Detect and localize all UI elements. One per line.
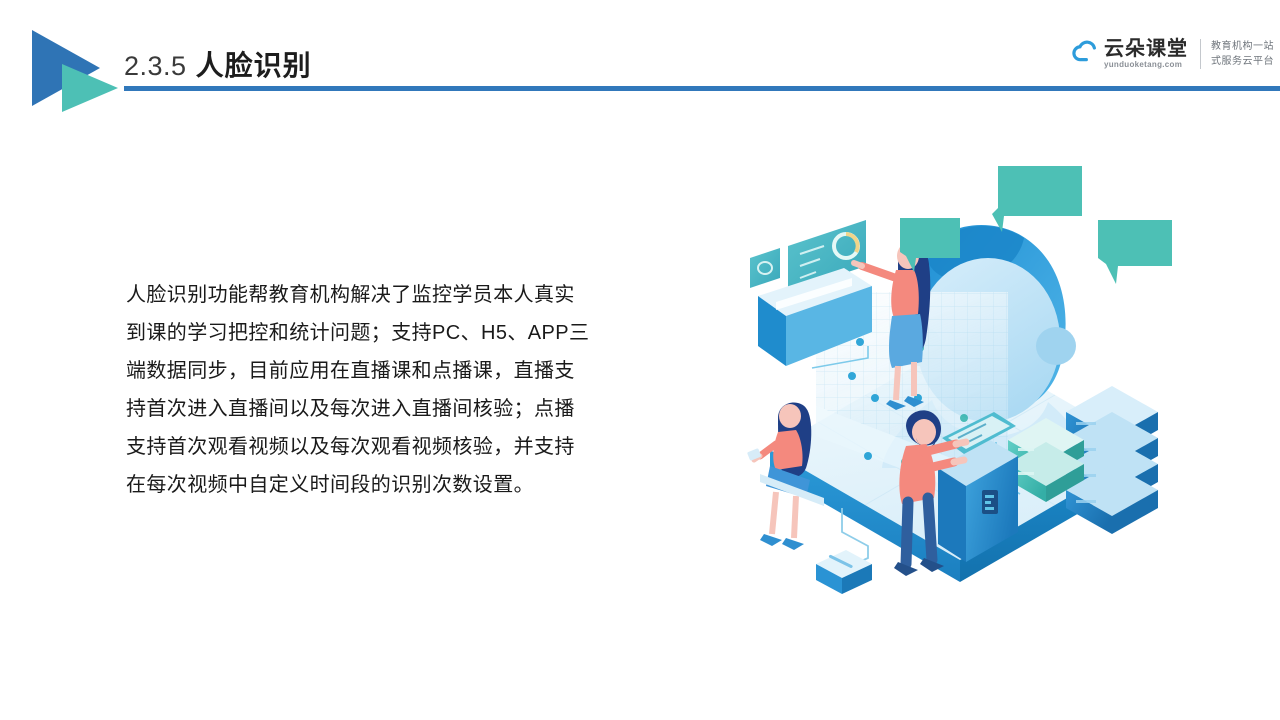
speech-bubble-top <box>992 166 1082 232</box>
copy-line: 持首次进入直播间以及每次进入直播间核验；点播 <box>126 390 626 428</box>
brand-mark <box>28 26 124 112</box>
corporate-logo-words: 云朵课堂 yunduoketang.com <box>1104 39 1188 69</box>
copy-line: 在每次视频中自定义时间段的识别次数设置。 <box>126 466 626 504</box>
corporate-name: 云朵课堂 <box>1104 39 1188 59</box>
copy-line: 人脸识别功能帮教育机构解决了监控学员本人真实 <box>126 276 626 314</box>
slide-header: 2.3.5 人脸识别 云朵课堂 yunduoketang.com 教育机构一站 … <box>0 0 1280 100</box>
page-title: 2.3.5 人脸识别 <box>124 44 312 84</box>
isometric-face-recognition-illustration <box>720 150 1200 600</box>
corporate-domain: yunduoketang.com <box>1104 61 1188 69</box>
header-divider-rule <box>124 86 1280 91</box>
logo-divider <box>1200 39 1201 69</box>
copy-line: 端数据同步，目前应用在直播课和点播课，直播支 <box>126 352 626 390</box>
speech-bubble-right <box>1098 220 1172 284</box>
title-number: 2.3.5 <box>124 51 187 82</box>
title-text: 人脸识别 <box>196 44 312 84</box>
corporate-logo: 云朵课堂 yunduoketang.com 教育机构一站 式服务云平台 <box>1071 30 1274 78</box>
tagline-line-1: 教育机构一站 <box>1211 39 1274 54</box>
tagline-line-2: 式服务云平台 <box>1211 54 1274 69</box>
corporate-tagline: 教育机构一站 式服务云平台 <box>1211 39 1274 69</box>
server-rack-blue <box>1066 386 1158 534</box>
copy-line: 支持首次观看视频以及每次观看视频核验，并支持 <box>126 428 626 466</box>
network-node-box <box>816 550 872 594</box>
body-copy: 人脸识别功能帮教育机构解决了监控学员本人真实 到课的学习把控和统计问题；支持PC… <box>126 276 626 504</box>
copy-line: 到课的学习把控和统计问题；支持PC、H5、APP三 <box>126 314 626 352</box>
corporate-logo-main: 云朵课堂 yunduoketang.com <box>1071 39 1200 69</box>
cloud-icon <box>1071 39 1101 69</box>
